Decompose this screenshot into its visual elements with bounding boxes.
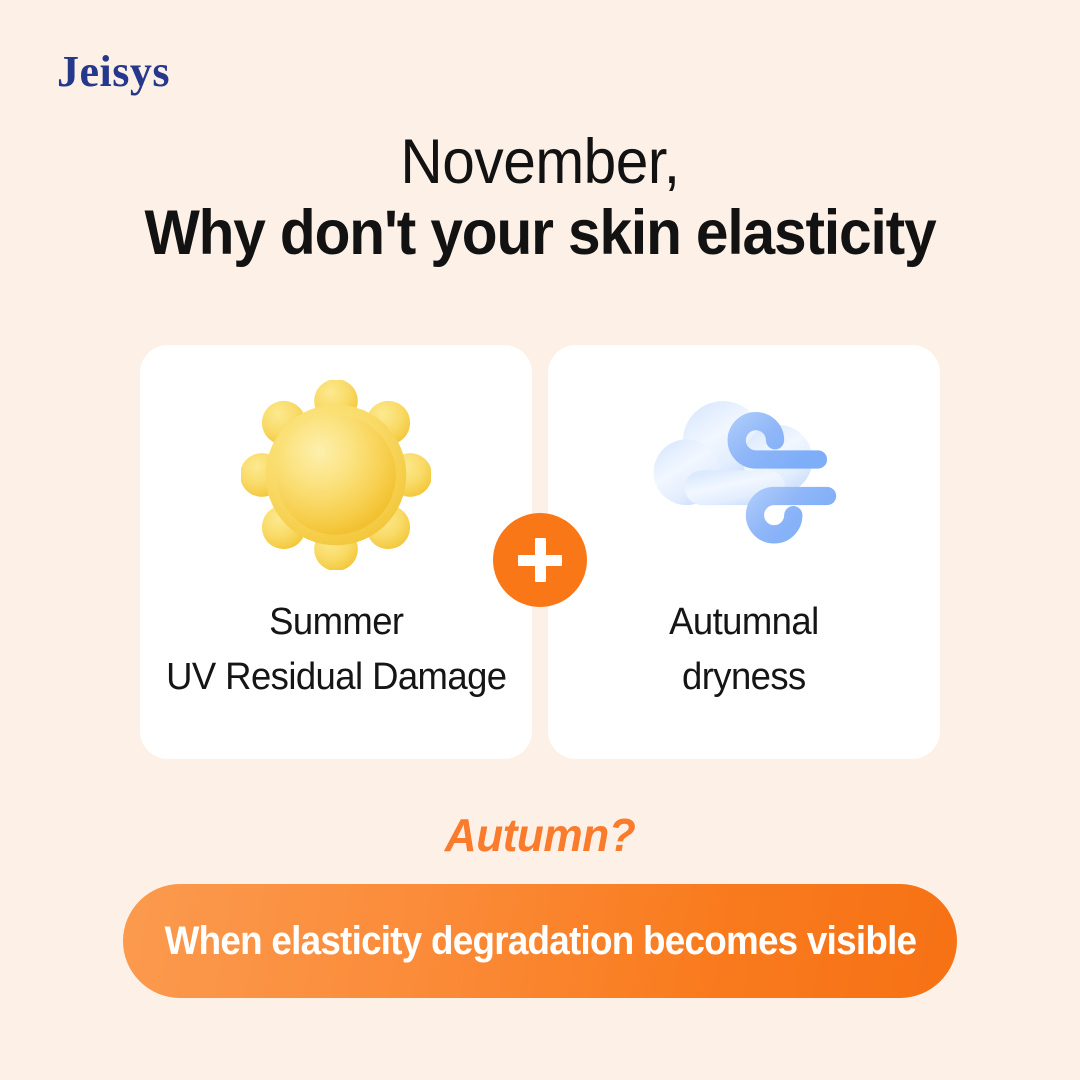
card-autumnal-dryness-label: Autumnal dryness [669, 595, 819, 705]
title-line-1: November, [38, 128, 1042, 196]
title-line-2: Why don't your skin elasticity [38, 196, 1042, 270]
plus-icon-vertical-bar [535, 538, 546, 582]
card-autumnal-dryness: Autumnal dryness [548, 345, 940, 759]
sun-icon [140, 345, 532, 595]
wind-cloud-icon [548, 345, 940, 595]
plus-icon [493, 513, 587, 607]
card-autumnal-dryness-label-line1: Autumnal [669, 601, 819, 643]
card-summer-uv-label-line2: UV Residual Damage [166, 656, 506, 698]
conclusion-banner-text: When elasticity degradation becomes visi… [164, 919, 916, 964]
brand-logo: Jeisys [57, 50, 170, 94]
conclusion-banner: When elasticity degradation becomes visi… [123, 884, 957, 998]
card-summer-uv-label: Summer UV Residual Damage [166, 595, 506, 705]
card-summer-uv: Summer UV Residual Damage [140, 345, 532, 759]
card-summer-uv-label-line1: Summer [269, 601, 403, 643]
card-autumnal-dryness-label-line2: dryness [682, 656, 806, 698]
autumn-question: Autumn? [22, 808, 1059, 862]
page-title: November, Why don't your skin elasticity [0, 128, 1080, 270]
